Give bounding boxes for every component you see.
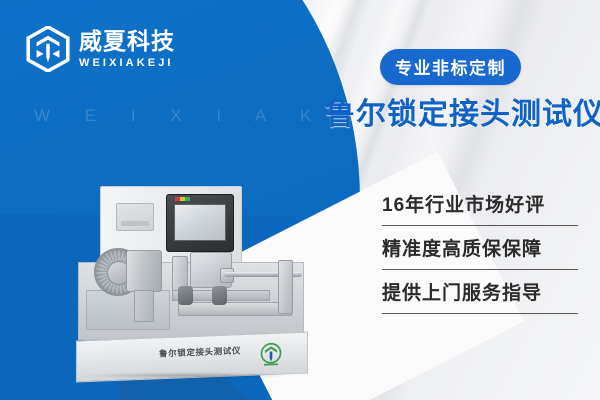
brand-name-cn: 威夏科技 (79, 30, 175, 53)
machine-tray (86, 290, 170, 330)
hmi-screen (174, 204, 226, 241)
machine-right-post (278, 260, 293, 314)
promo-badge: 专业非标定制 (380, 49, 521, 85)
divider (382, 269, 578, 270)
company-round-badge-icon (258, 342, 284, 369)
feature-text: 提供上门服务指导 (382, 284, 582, 313)
machine-shadow (82, 372, 297, 379)
list-item: 16年行业市场好评 (382, 196, 582, 226)
feature-list: 16年行业市场好评 精准度高质保保障 提供上门服务指导 (382, 196, 582, 328)
hmi-touchscreen-icon (166, 194, 234, 252)
feature-text: 16年行业市场好评 (382, 196, 582, 225)
list-item: 提供上门服务指导 (382, 284, 582, 314)
feature-text: 精准度高质保保障 (382, 240, 582, 269)
brand-watermark: W E I X I A K E (34, 106, 372, 126)
machine-knob (178, 286, 193, 305)
hexagon-shield-logo-icon (26, 26, 70, 72)
brand-logo-text: 威夏科技 WEIXIAKEJI (79, 30, 175, 69)
brand-logo: 威夏科技 WEIXIAKEJI (26, 26, 175, 72)
brand-name-en: WEIXIAKEJI (79, 58, 175, 69)
list-item: 精准度高质保保障 (382, 240, 582, 270)
machine-access-plate (116, 203, 154, 231)
product-banner: W E I X I A K E 威夏科技 WEIXIAKEJI 专业非标定制 鲁… (0, 0, 600, 400)
machine-motor-block (126, 250, 162, 292)
machine-knob (212, 286, 227, 305)
machine-motor-mount (134, 290, 154, 322)
hmi-status-leds (175, 197, 190, 201)
machine-rail-lower (178, 302, 292, 316)
divider (382, 225, 578, 226)
product-image: 鲁尔锁定接头测试仪 (72, 186, 304, 386)
page-title: 鲁尔锁定接头测试仪 (325, 89, 600, 133)
divider (382, 313, 578, 314)
